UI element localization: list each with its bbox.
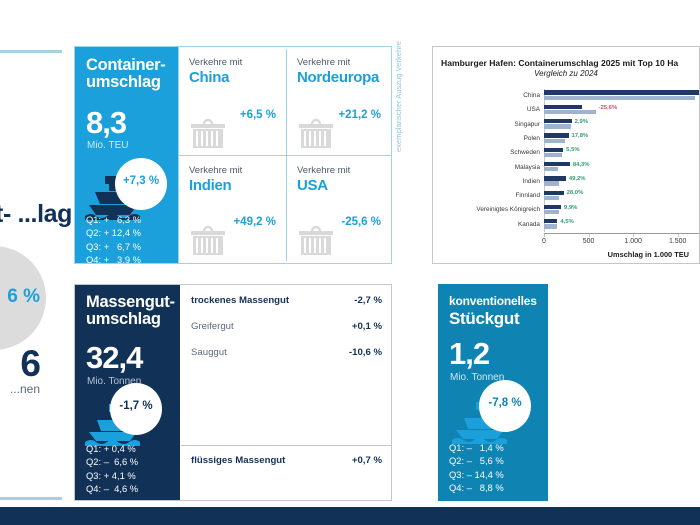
container-title: Container- umschlag bbox=[86, 57, 178, 92]
chart-bar-current bbox=[544, 105, 582, 109]
container-handling-block: Container- umschlag 8,3 Mio. TEU +7,3 % … bbox=[74, 46, 392, 264]
chart-bar-label: 84,3% bbox=[573, 162, 590, 168]
general-cargo-title-small: konventionelles bbox=[449, 294, 537, 308]
container-box-icon bbox=[296, 222, 336, 256]
chart-bar-previous bbox=[544, 139, 565, 143]
general-cargo-title-large: Stückgut bbox=[449, 309, 519, 329]
chart-category-label: Kanada bbox=[518, 221, 540, 228]
trade-label-china: Verkehre mit bbox=[189, 57, 242, 68]
chart-bar-label: 5,5% bbox=[566, 147, 579, 153]
chart-bar-previous bbox=[544, 181, 559, 185]
chart-category-label: Malaysia bbox=[515, 164, 540, 171]
chart-category-label: Indien bbox=[523, 178, 540, 185]
bulk-value: 32,4 bbox=[86, 340, 142, 376]
chart-category-label: China bbox=[523, 92, 540, 99]
chart-x-tick-label: 500 bbox=[569, 238, 609, 245]
chart-bar-previous bbox=[544, 124, 571, 128]
bulk-row-grab: Greifergut +0,1 % bbox=[191, 321, 382, 340]
container-unit: Mio. TEU bbox=[87, 140, 129, 151]
chart-x-tick bbox=[589, 234, 590, 237]
chart-x-tick-label: 1.500 bbox=[658, 238, 698, 245]
chart-category-label: USA bbox=[527, 106, 540, 113]
chart-title: Hamburger Hafen: Containerumschlag 2025 … bbox=[441, 58, 700, 68]
chart-bar-label: 49,2% bbox=[569, 176, 586, 182]
chart-category-label: Polen bbox=[524, 135, 540, 142]
trade-label-nordeuropa: Verkehre mit bbox=[297, 57, 350, 68]
chart-bar-current bbox=[544, 90, 699, 94]
container-quarterly-list: Q1: + 6,3 % Q2: + 12,4 % Q3: + 6,7 % Q4:… bbox=[86, 213, 141, 263]
chart-bar-current bbox=[544, 205, 561, 209]
container-throughput-chart-panel: Hamburger Hafen: Containerumschlag 2025 … bbox=[432, 46, 700, 264]
bulk-row-suction: Sauggut -10,6 % bbox=[191, 347, 382, 366]
trade-label-indien: Verkehre mit bbox=[189, 165, 242, 176]
total-change-value: 6 % bbox=[0, 286, 40, 308]
chart-bar-current bbox=[544, 133, 569, 137]
chart-category-label: Finnland bbox=[515, 192, 540, 199]
chart-x-tick bbox=[544, 234, 545, 237]
exemplary-traffic-note: exemplarischer Auszug Verkehre bbox=[394, 32, 403, 152]
container-kpi-card: Container- umschlag 8,3 Mio. TEU +7,3 % … bbox=[75, 47, 178, 263]
chart-bar-label: 4,5% bbox=[560, 219, 573, 225]
total-handling-panel-cropped: ...mt- ...lag 6 % 6 ...nen bbox=[0, 46, 72, 501]
trade-pct-nordeuropa: +21,2 % bbox=[338, 109, 381, 121]
chart-x-tick-label: 1.000 bbox=[613, 238, 653, 245]
chart-bar-label: 2,9% bbox=[575, 119, 588, 125]
bulk-row-liquid: flüssiges Massengut +0,7 % bbox=[191, 455, 382, 474]
chart-bar-label: 28,0% bbox=[567, 190, 584, 196]
general-cargo-block: konventionelles Stückgut 1,2 Mio. Tonnen… bbox=[438, 284, 548, 501]
trade-cell-china: Verkehre mit China +6,5 % bbox=[179, 48, 286, 155]
bulk-row-name: flüssiges Massengut bbox=[191, 455, 285, 466]
chart-bar-label: 17,8% bbox=[572, 133, 589, 139]
general-cargo-value: 1,2 bbox=[449, 336, 489, 372]
bulk-row-name: Sauggut bbox=[191, 347, 227, 358]
bulk-kpi-card: Massengut- umschlag 32,4 Mio. Tonnen -1,… bbox=[75, 285, 180, 500]
trade-cell-usa: Verkehre mit USA -25,6 % bbox=[287, 156, 391, 262]
trade-pct-indien: +49,2 % bbox=[233, 216, 276, 228]
chart-bar-current bbox=[544, 162, 570, 166]
chart-bar-previous bbox=[544, 167, 558, 171]
bulk-title: Massengut- umschlag bbox=[86, 294, 180, 329]
container-box-icon bbox=[188, 222, 228, 256]
trade-cell-indien: Verkehre mit Indien +49,2 % bbox=[179, 156, 286, 262]
trade-region-indien: Indien bbox=[189, 177, 231, 194]
trade-cell-nordeuropa: Verkehre mit Nordeuropa +21,2 % bbox=[287, 48, 391, 155]
chart-bar-previous bbox=[544, 96, 695, 100]
chart-x-tick-label: 0 bbox=[524, 238, 564, 245]
bulk-row-value: +0,7 % bbox=[352, 455, 382, 466]
chart-bar-current bbox=[544, 119, 572, 123]
chart-bar-previous bbox=[544, 210, 559, 214]
general-cargo-quarterly-list: Q1: – 1,4 % Q2: – 5,6 % Q3: – 14,4 % Q4:… bbox=[449, 441, 504, 494]
trade-pct-usa: -25,6 % bbox=[341, 216, 381, 228]
bulk-row-value: +0,1 % bbox=[352, 321, 382, 332]
chart-bar-previous bbox=[544, 153, 562, 157]
chart-bar-label: -25,6% bbox=[599, 105, 618, 111]
bulk-row-name: trockenes Massengut bbox=[191, 295, 289, 306]
container-box-icon bbox=[296, 115, 336, 149]
chart-x-tick bbox=[678, 234, 679, 237]
chart-x-tick bbox=[633, 234, 634, 237]
chart-bar-label: 9,9% bbox=[564, 205, 577, 211]
trade-pct-china: +6,5 % bbox=[240, 109, 276, 121]
container-value: 8,3 bbox=[86, 105, 126, 141]
trade-region-nordeuropa: Nordeuropa bbox=[297, 69, 379, 86]
chart-bar-current bbox=[544, 219, 557, 223]
total-handling-unit: ...nen bbox=[0, 382, 40, 396]
bulk-row-value: -2,7 % bbox=[354, 295, 382, 306]
chart-bar-previous bbox=[544, 224, 557, 228]
bulk-section-divider bbox=[181, 445, 391, 446]
general-cargo-change-value: -7,8 % bbox=[479, 397, 531, 409]
bulk-row-name: Greifergut bbox=[191, 321, 234, 332]
chart-axis-line bbox=[544, 233, 700, 234]
trade-region-china: China bbox=[189, 69, 229, 86]
bulk-row-value: -10,6 % bbox=[349, 347, 382, 358]
bulk-cargo-block: Massengut- umschlag 32,4 Mio. Tonnen -1,… bbox=[74, 284, 392, 501]
chart-bar-current bbox=[544, 176, 566, 180]
chart-category-label: Singapur bbox=[514, 121, 540, 128]
chart-x-axis-title: Umschlag in 1.000 TEU bbox=[608, 250, 689, 259]
bulk-quarterly-list: Q1: + 0,4 % Q2: – 6,6 % Q3: + 4,1 % Q4: … bbox=[86, 442, 138, 495]
chart-category-label: Schweden bbox=[510, 149, 540, 156]
container-change-value: +7,3 % bbox=[115, 175, 167, 187]
trade-region-usa: USA bbox=[297, 177, 328, 194]
trade-label-usa: Verkehre mit bbox=[297, 165, 350, 176]
total-handling-value: 6 bbox=[0, 343, 40, 385]
bottom-bar bbox=[0, 507, 700, 525]
chart-category-label: Vereinigtes Königreich bbox=[476, 206, 540, 213]
bulk-change-value: -1,7 % bbox=[110, 400, 162, 412]
chart-subtitle: Vergleich zu 2024 bbox=[441, 69, 691, 78]
chart-plot-area: ChinaUSA-25,6%Singapur2,9%Polen17,8%Schw… bbox=[433, 85, 700, 235]
total-handling-title: ...mt- ...lag bbox=[0, 201, 72, 227]
chart-bar-current bbox=[544, 148, 563, 152]
chart-bar-previous bbox=[544, 196, 559, 200]
bulk-row-dry: trockenes Massengut -2,7 % bbox=[191, 295, 382, 314]
chart-bar-previous bbox=[544, 110, 596, 114]
chart-bar-current bbox=[544, 191, 564, 195]
container-box-icon bbox=[188, 115, 228, 149]
